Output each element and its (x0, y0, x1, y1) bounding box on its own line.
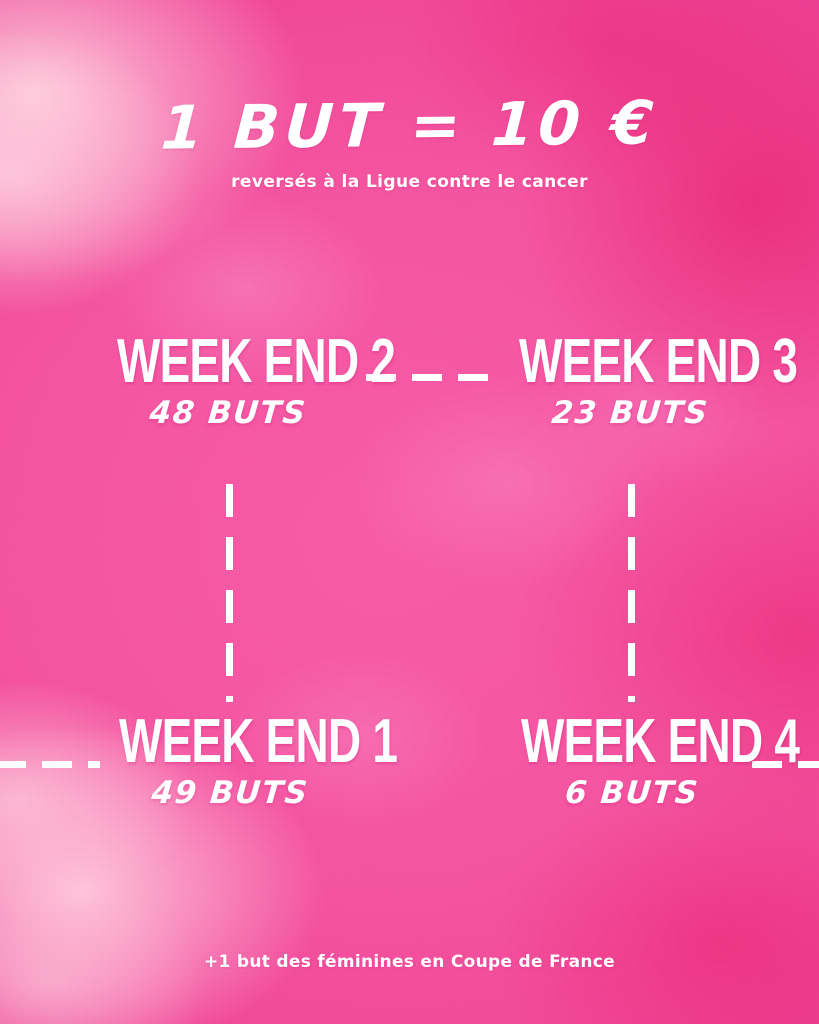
poster-canvas: 1 BUT = 10 € reversés à la Ligue contre … (0, 0, 819, 1024)
headline-subtitle: reversés à la Ligue contre le cancer (0, 172, 819, 192)
connector-dashed-we3-we4 (628, 484, 635, 702)
weekend-block-1: WEEK END 1 49 BUTS (80, 712, 380, 809)
weekend-block-4: WEEK END 4 6 BUTS (482, 712, 782, 809)
weekend-goals-3: 23 BUTS (479, 398, 782, 429)
weekend-title-4: WEEK END 4 (521, 712, 743, 772)
poster-content: 1 BUT = 10 € reversés à la Ligue contre … (0, 0, 819, 1024)
footer-note: +1 but des féminines en Coupe de France (0, 952, 819, 972)
headline: 1 BUT = 10 € (0, 92, 819, 161)
weekend-goals-2: 48 BUTS (77, 398, 380, 429)
weekend-title-3: WEEK END 3 (519, 332, 741, 392)
weekend-title-1: WEEK END 1 (119, 712, 341, 772)
weekend-goals-4: 6 BUTS (481, 778, 784, 809)
weekend-title-2: WEEK END 2 (117, 332, 339, 392)
weekend-block-2: WEEK END 2 48 BUTS (78, 332, 378, 429)
header-block: 1 BUT = 10 € reversés à la Ligue contre … (0, 96, 819, 192)
weekend-goals-1: 49 BUTS (79, 778, 382, 809)
connector-dashed-we2-we1 (226, 484, 233, 702)
weekend-block-3: WEEK END 3 23 BUTS (480, 332, 780, 429)
